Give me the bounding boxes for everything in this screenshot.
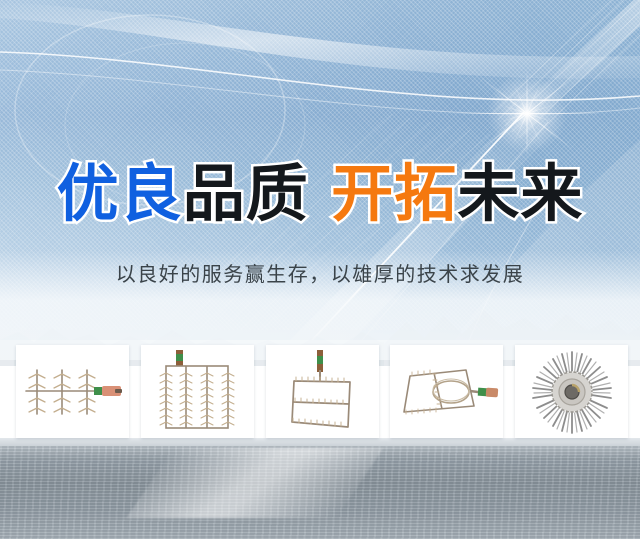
headline-space (309, 157, 332, 230)
flat-ring-rack-icon (394, 358, 499, 426)
product-card-4[interactable] (390, 345, 503, 438)
dense-frame-rack-icon (156, 349, 238, 435)
plain-frame-rack-icon (282, 349, 362, 435)
comb-branch-rack-icon (20, 354, 125, 429)
light-burst-icon (527, 113, 528, 114)
headline-part-2: 品质 (183, 157, 309, 230)
product-card-5[interactable] (515, 345, 628, 438)
product-card-3[interactable] (266, 345, 379, 438)
headline: 优良品质 开拓未来 (0, 163, 640, 225)
product-card-row (16, 345, 628, 438)
product-card-1[interactable] (16, 345, 129, 438)
headline-part-1: 优良 (57, 157, 183, 230)
subtitle: 以良好的服务赢生存，以雄厚的技术求发展 (0, 258, 640, 287)
headline-part-3: 开拓 (331, 157, 457, 230)
radial-sunburst-rack-icon (530, 350, 614, 434)
product-card-2[interactable] (141, 345, 254, 438)
promo-banner: 优良品质 开拓未来 以良好的服务赢生存，以雄厚的技术求发展 (0, 0, 640, 539)
headline-part-4: 未来 (457, 157, 583, 230)
